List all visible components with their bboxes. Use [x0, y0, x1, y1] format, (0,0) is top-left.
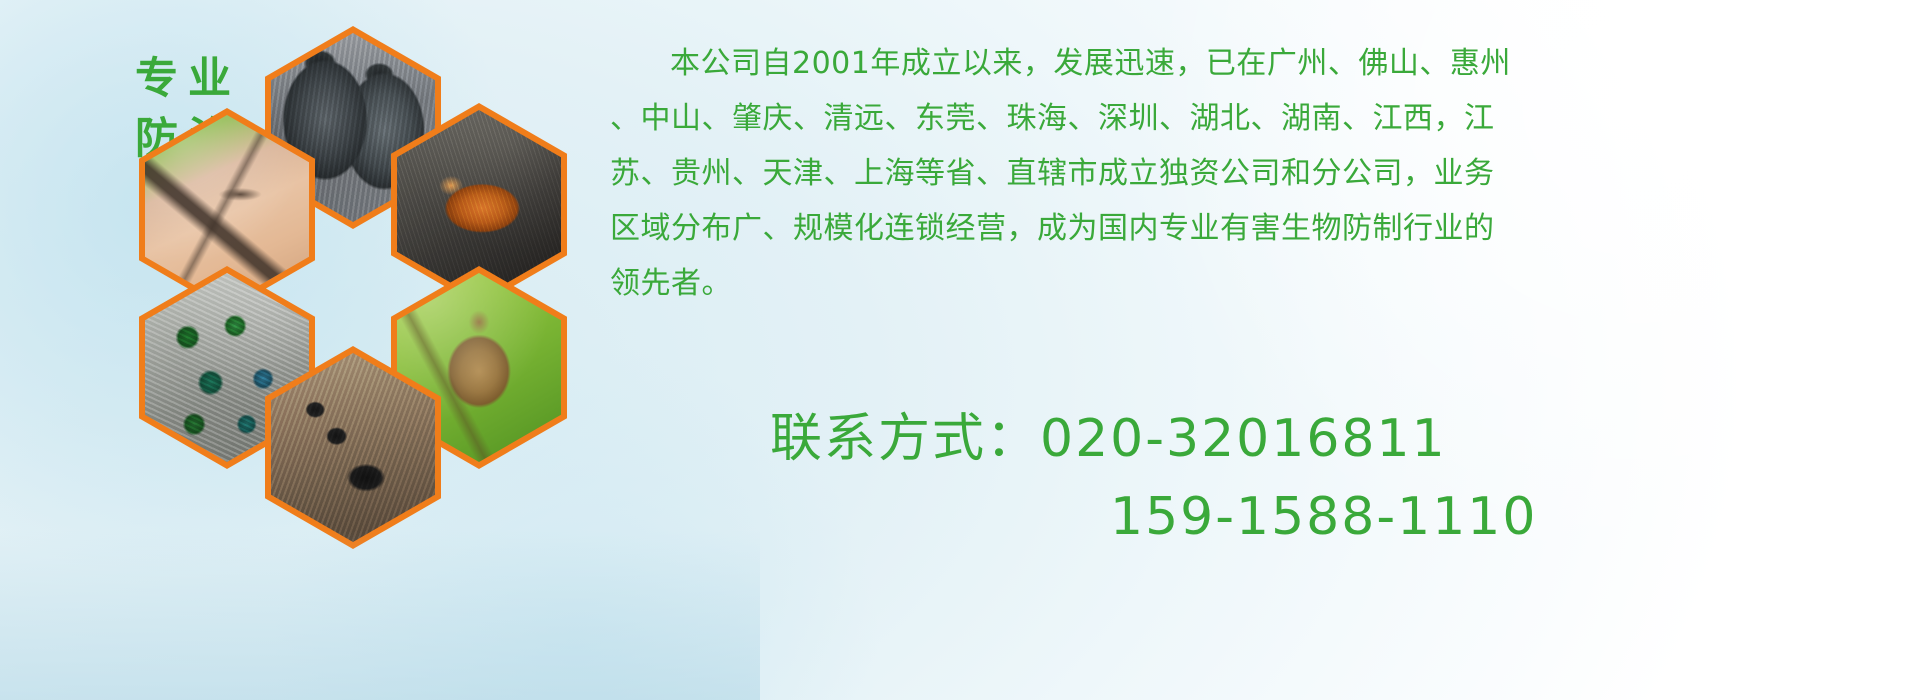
logo-slogan-line-1: 专业 — [125, 53, 241, 107]
contact-phone-landline[interactable]: 联系方式：020-32016811 — [770, 400, 1537, 478]
description-line-3: 苏、贵州、天津、上海等省、直辖市成立独资公司和分公司，业务 — [610, 146, 1890, 201]
description-line-2: 、中山、肇庆、清远、东莞、珠海、深圳、湖北、湖南、江西，江 — [610, 91, 1890, 146]
description-line-5: 领先者。 — [610, 256, 1890, 311]
hexagon-photo-cluster: 专业 防治 — [95, 8, 595, 568]
contact-block: 联系方式：020-32016811 159-1588-1110 — [770, 400, 1537, 556]
description-line-4: 区域分布广、规模化连锁经营，成为国内专业有害生物防制行业的 — [610, 201, 1890, 256]
promo-banner: 专业 防治 本公司自2001年成立以来，发展迅速，已在广州、佛山、惠州 、中山、… — [0, 0, 1920, 700]
description-line-1: 本公司自2001年成立以来，发展迅速，已在广州、佛山、惠州 — [610, 36, 1890, 91]
contact-phone-mobile[interactable]: 159-1588-1110 — [770, 478, 1537, 556]
company-description: 本公司自2001年成立以来，发展迅速，已在广州、佛山、惠州 、中山、肇庆、清远、… — [610, 36, 1890, 311]
ant-photo-image — [271, 353, 435, 542]
